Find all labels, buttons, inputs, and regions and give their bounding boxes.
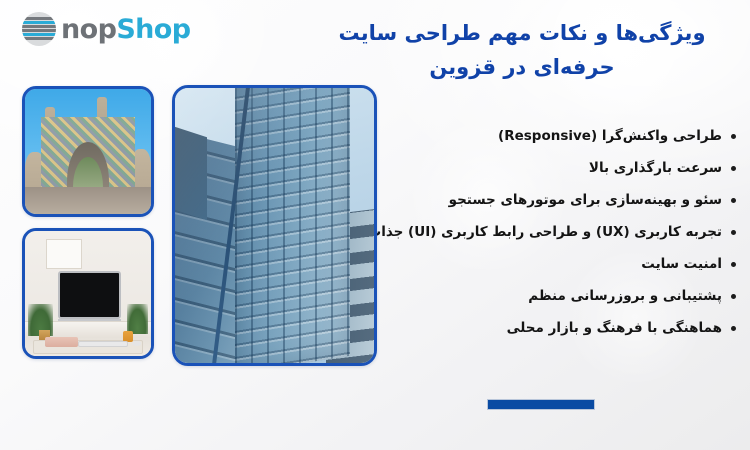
list-item-label: تجربه کاربری (UX) و طراحی رابط کاربری (U… <box>368 224 722 240</box>
feature-list: طراحی واکنش‌گرا (Responsive) سرعت بارگذا… <box>336 120 736 344</box>
list-item-label: امنیت سایت <box>641 256 722 272</box>
list-item: سئو و بهینه‌سازی برای موتورهای جستجو <box>336 184 736 216</box>
brand-logo[interactable]: nopShop <box>22 12 190 46</box>
list-item-label: پشتیبانی و بروزرسانی منظم <box>528 288 722 304</box>
bullet-dot-icon <box>731 198 736 203</box>
photo-modern-desk-workspace <box>22 228 154 359</box>
brand-name-part-1: nop <box>61 14 116 45</box>
photo-glass-office-tower <box>172 85 377 366</box>
list-item-label: طراحی واکنش‌گرا (Responsive) <box>498 128 722 144</box>
bullet-dot-icon <box>731 326 736 331</box>
slide-canvas: nopShop ویژگی‌ها و نکات مهم طراحی سایت ح… <box>0 0 750 450</box>
brand-wordmark: nopShop <box>61 16 190 43</box>
nop-commerce-circle-icon <box>22 12 56 46</box>
bullet-dot-icon <box>731 134 736 139</box>
list-item: سرعت بارگذاری بالا <box>336 152 736 184</box>
list-item-label: هماهنگی با فرهنگ و بازار محلی <box>507 320 722 336</box>
brand-name-part-2: Shop <box>116 14 190 45</box>
list-item: تجربه کاربری (UX) و طراحی رابط کاربری (U… <box>336 216 736 248</box>
page-title-line-2: حرفه‌ای در قزوین <box>312 50 732 84</box>
bullet-dot-icon <box>731 294 736 299</box>
list-item: امنیت سایت <box>336 248 736 280</box>
list-item-label: سرعت بارگذاری بالا <box>589 160 722 176</box>
list-item: هماهنگی با فرهنگ و بازار محلی <box>336 312 736 344</box>
page-title-line-1: ویژگی‌ها و نکات مهم طراحی سایت <box>312 16 732 50</box>
list-item-label: سئو و بهینه‌سازی برای موتورهای جستجو <box>449 192 722 208</box>
list-item: طراحی واکنش‌گرا (Responsive) <box>336 120 736 152</box>
bullet-dot-icon <box>731 166 736 171</box>
page-title: ویژگی‌ها و نکات مهم طراحی سایت حرفه‌ای د… <box>312 16 732 84</box>
bullet-dot-icon <box>731 230 736 235</box>
list-item: پشتیبانی و بروزرسانی منظم <box>336 280 736 312</box>
accent-underline-bar <box>487 399 595 410</box>
photo-qazvin-historic-gate <box>22 86 154 217</box>
bullet-dot-icon <box>731 262 736 267</box>
